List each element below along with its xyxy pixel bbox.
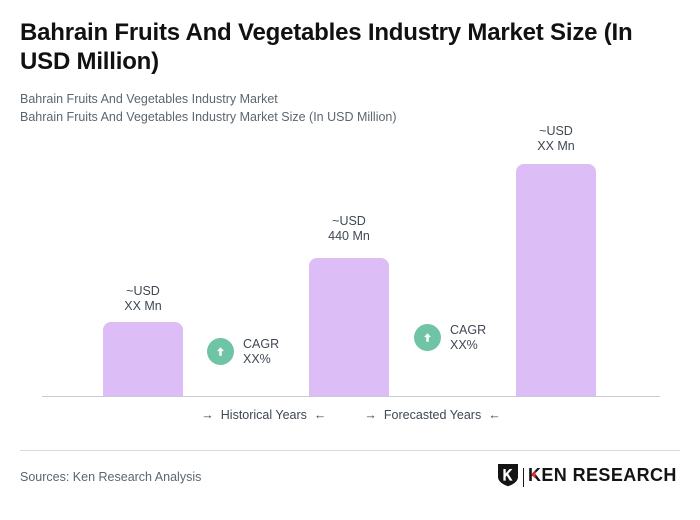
arrow-right-icon: → [201,409,214,422]
arrow-up-icon [414,324,441,351]
arrow-up-icon [207,338,234,365]
cagr-badge-historical[interactable]: CAGR XX% [207,337,279,366]
period-historical: → Historical Years ← [201,408,326,422]
cagr-badge-forecast[interactable]: CAGR XX% [414,323,486,352]
sources-label: Sources: Ken Research Analysis [20,470,201,484]
bar-base[interactable] [309,258,389,396]
logo-wordmark: KEN RESEARCH [528,464,680,491]
chart-footer: Sources: Ken Research Analysis KEN RESEA… [20,462,680,492]
period-forecasted-label: Forecasted Years [384,408,481,422]
svg-text:KEN RESEARCH: KEN RESEARCH [528,465,677,485]
period-forecasted: → Forecasted Years ← [364,408,500,422]
bar-value-label-3: ~USD XX Mn [516,124,596,153]
cagr-label-historical: CAGR XX% [243,337,279,366]
logo-shield-icon [497,463,519,492]
x-axis-line [42,396,660,397]
logo-divider [523,468,525,487]
arrow-left-icon: ← [314,409,327,422]
footer-divider [20,450,680,451]
arrow-left-icon: ← [488,409,501,422]
ken-research-logo: KEN RESEARCH [497,463,681,492]
bar-value-label-2: ~USD 440 Mn [309,214,389,243]
bar-value-label-1: ~USD XX Mn [103,284,183,313]
bar-forecasted[interactable] [516,164,596,396]
period-legend: → Historical Years ← → Forecasted Years … [42,408,660,422]
period-historical-label: Historical Years [221,408,307,422]
chart-plot-area: ~USD XX Mn CAGR XX% ~USD 440 Mn [0,0,700,520]
cagr-label-forecast: CAGR XX% [450,323,486,352]
bar-historical[interactable] [103,322,183,396]
arrow-right-icon: → [364,409,377,422]
